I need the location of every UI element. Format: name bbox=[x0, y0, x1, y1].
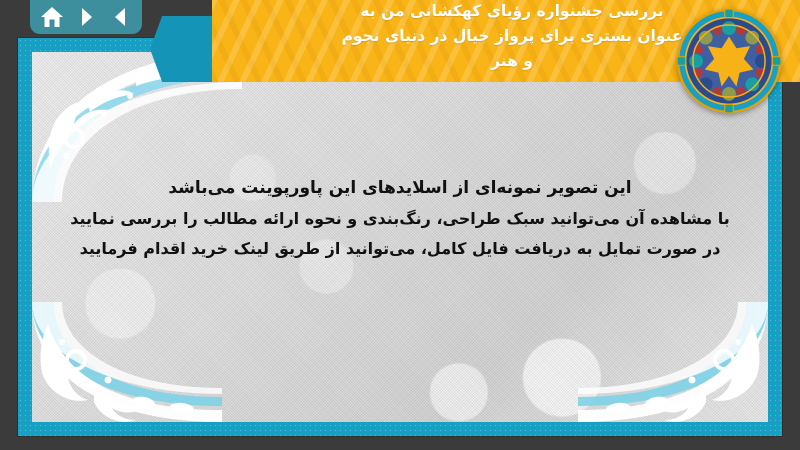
slide-body-text: این تصویر نمونه‌ای از اسلایدهای این پاور… bbox=[58, 173, 742, 264]
body-line-2: با مشاهده آن می‌توانید سبک طراحی، رنگ‌بن… bbox=[58, 204, 742, 234]
home-icon[interactable] bbox=[40, 5, 64, 29]
body-line-1: این تصویر نمونه‌ای از اسلایدهای این پاور… bbox=[58, 173, 742, 204]
chevron-left-icon[interactable] bbox=[108, 5, 132, 29]
body-line-3: در صورت تمایل به دریافت فایل کامل، می‌تو… bbox=[58, 234, 742, 264]
slide-viewer-window: این تصویر نمونه‌ای از اسلایدهای این پاور… bbox=[0, 0, 800, 450]
persian-medallion-ornament-icon bbox=[676, 8, 782, 114]
navigation-bar bbox=[30, 0, 142, 34]
chevron-right-icon[interactable] bbox=[74, 5, 98, 29]
